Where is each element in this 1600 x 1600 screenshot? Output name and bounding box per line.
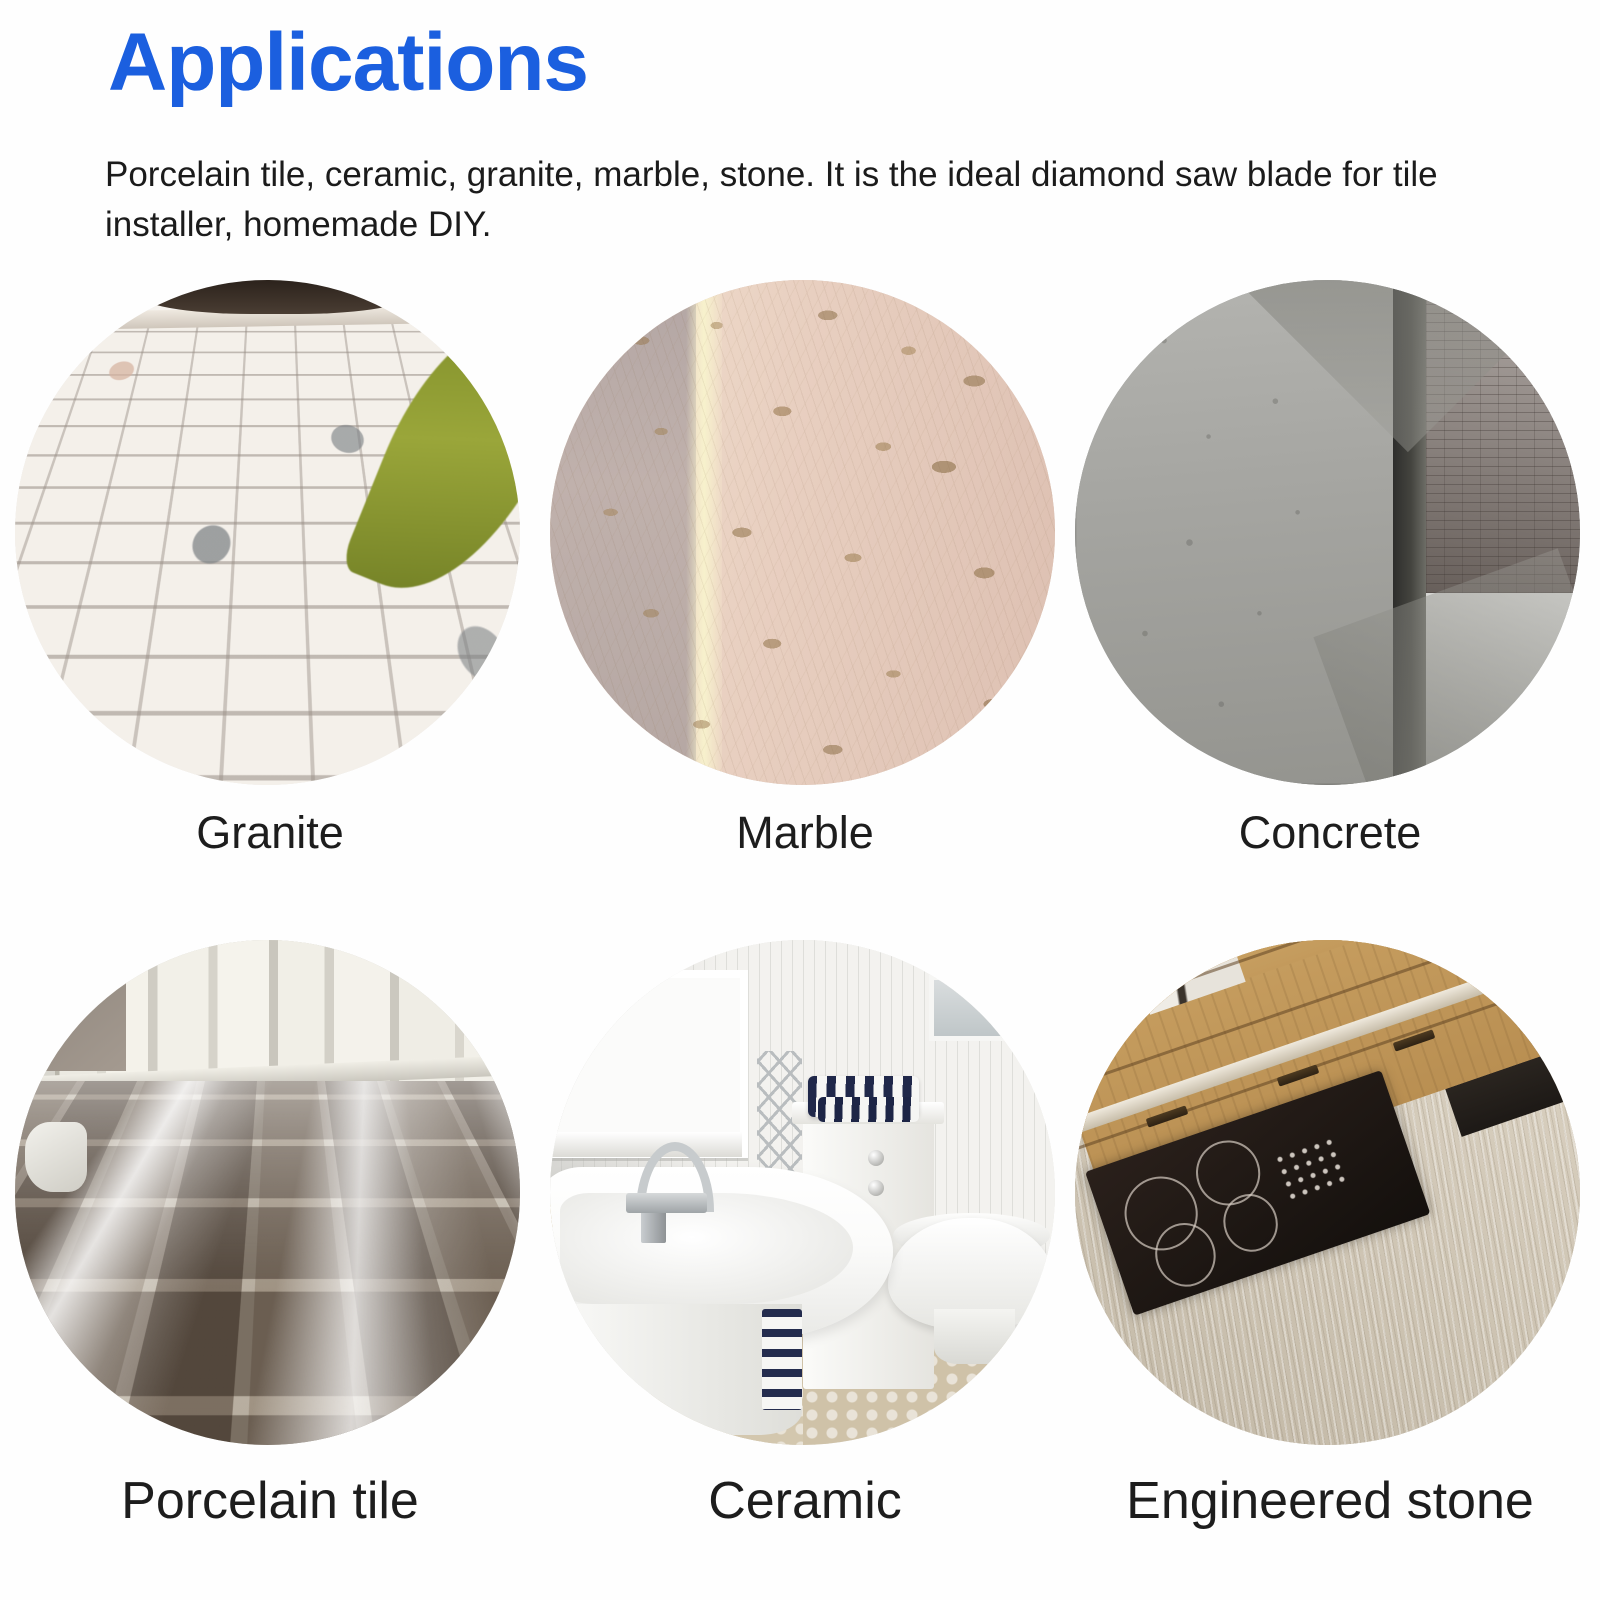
caption-engineered-stone: Engineered stone	[1075, 1471, 1585, 1531]
porcelain-tile-photo	[15, 940, 520, 1445]
gallery-item-porcelain-tile[interactable]: Porcelain tile	[15, 940, 525, 1531]
caption-porcelain-tile: Porcelain tile	[15, 1471, 525, 1531]
gallery-row-1: Granite Marble	[0, 280, 1600, 940]
gallery-row-2: Porcelain tile	[0, 940, 1600, 1600]
engineered-stone-photo	[1075, 940, 1580, 1445]
page-subtitle: Porcelain tile, ceramic, granite, marble…	[105, 150, 1505, 249]
ceramic-hanging-towel	[762, 1309, 802, 1410]
caption-marble: Marble	[550, 807, 1060, 859]
caption-concrete: Concrete	[1075, 807, 1585, 859]
ceramic-toilet-base	[934, 1309, 1015, 1365]
gallery-item-marble[interactable]: Marble	[550, 280, 1060, 859]
ceramic-window-sill	[550, 1132, 742, 1157]
marble-photo	[550, 280, 1055, 785]
porcelain-gloss-reflections	[15, 1081, 520, 1445]
gallery-item-ceramic[interactable]: Ceramic	[550, 940, 1060, 1531]
ceramic-faucet-base	[626, 1193, 707, 1213]
applications-gallery: Granite Marble	[0, 280, 1600, 1600]
ceramic-window	[550, 970, 748, 1158]
porcelain-dark-corner	[15, 940, 126, 1071]
granite-asphalt-strip	[135, 280, 415, 314]
cooktop-control-panel	[1272, 1136, 1349, 1208]
caption-ceramic: Ceramic	[550, 1471, 1060, 1531]
ceramic-photo	[550, 940, 1055, 1445]
porcelain-floor-object	[25, 1122, 87, 1192]
ceramic-cabinet-knob-upper	[868, 1150, 884, 1166]
gallery-item-granite[interactable]: Granite	[15, 280, 525, 859]
caption-granite: Granite	[15, 807, 525, 859]
page-title: Applications	[108, 22, 588, 104]
gallery-item-concrete[interactable]: Concrete	[1075, 280, 1585, 859]
granite-photo	[15, 280, 520, 785]
marble-grain	[550, 280, 1055, 785]
ceramic-upper-window	[929, 975, 1030, 1041]
concrete-photo	[1075, 280, 1580, 785]
ceramic-striped-towels-second	[818, 1097, 919, 1122]
gallery-item-engineered-stone[interactable]: Engineered stone	[1075, 940, 1585, 1531]
ceramic-cabinet-knob-lower	[868, 1180, 884, 1196]
infographic-page: Applications Porcelain tile, ceramic, gr…	[0, 0, 1600, 1600]
